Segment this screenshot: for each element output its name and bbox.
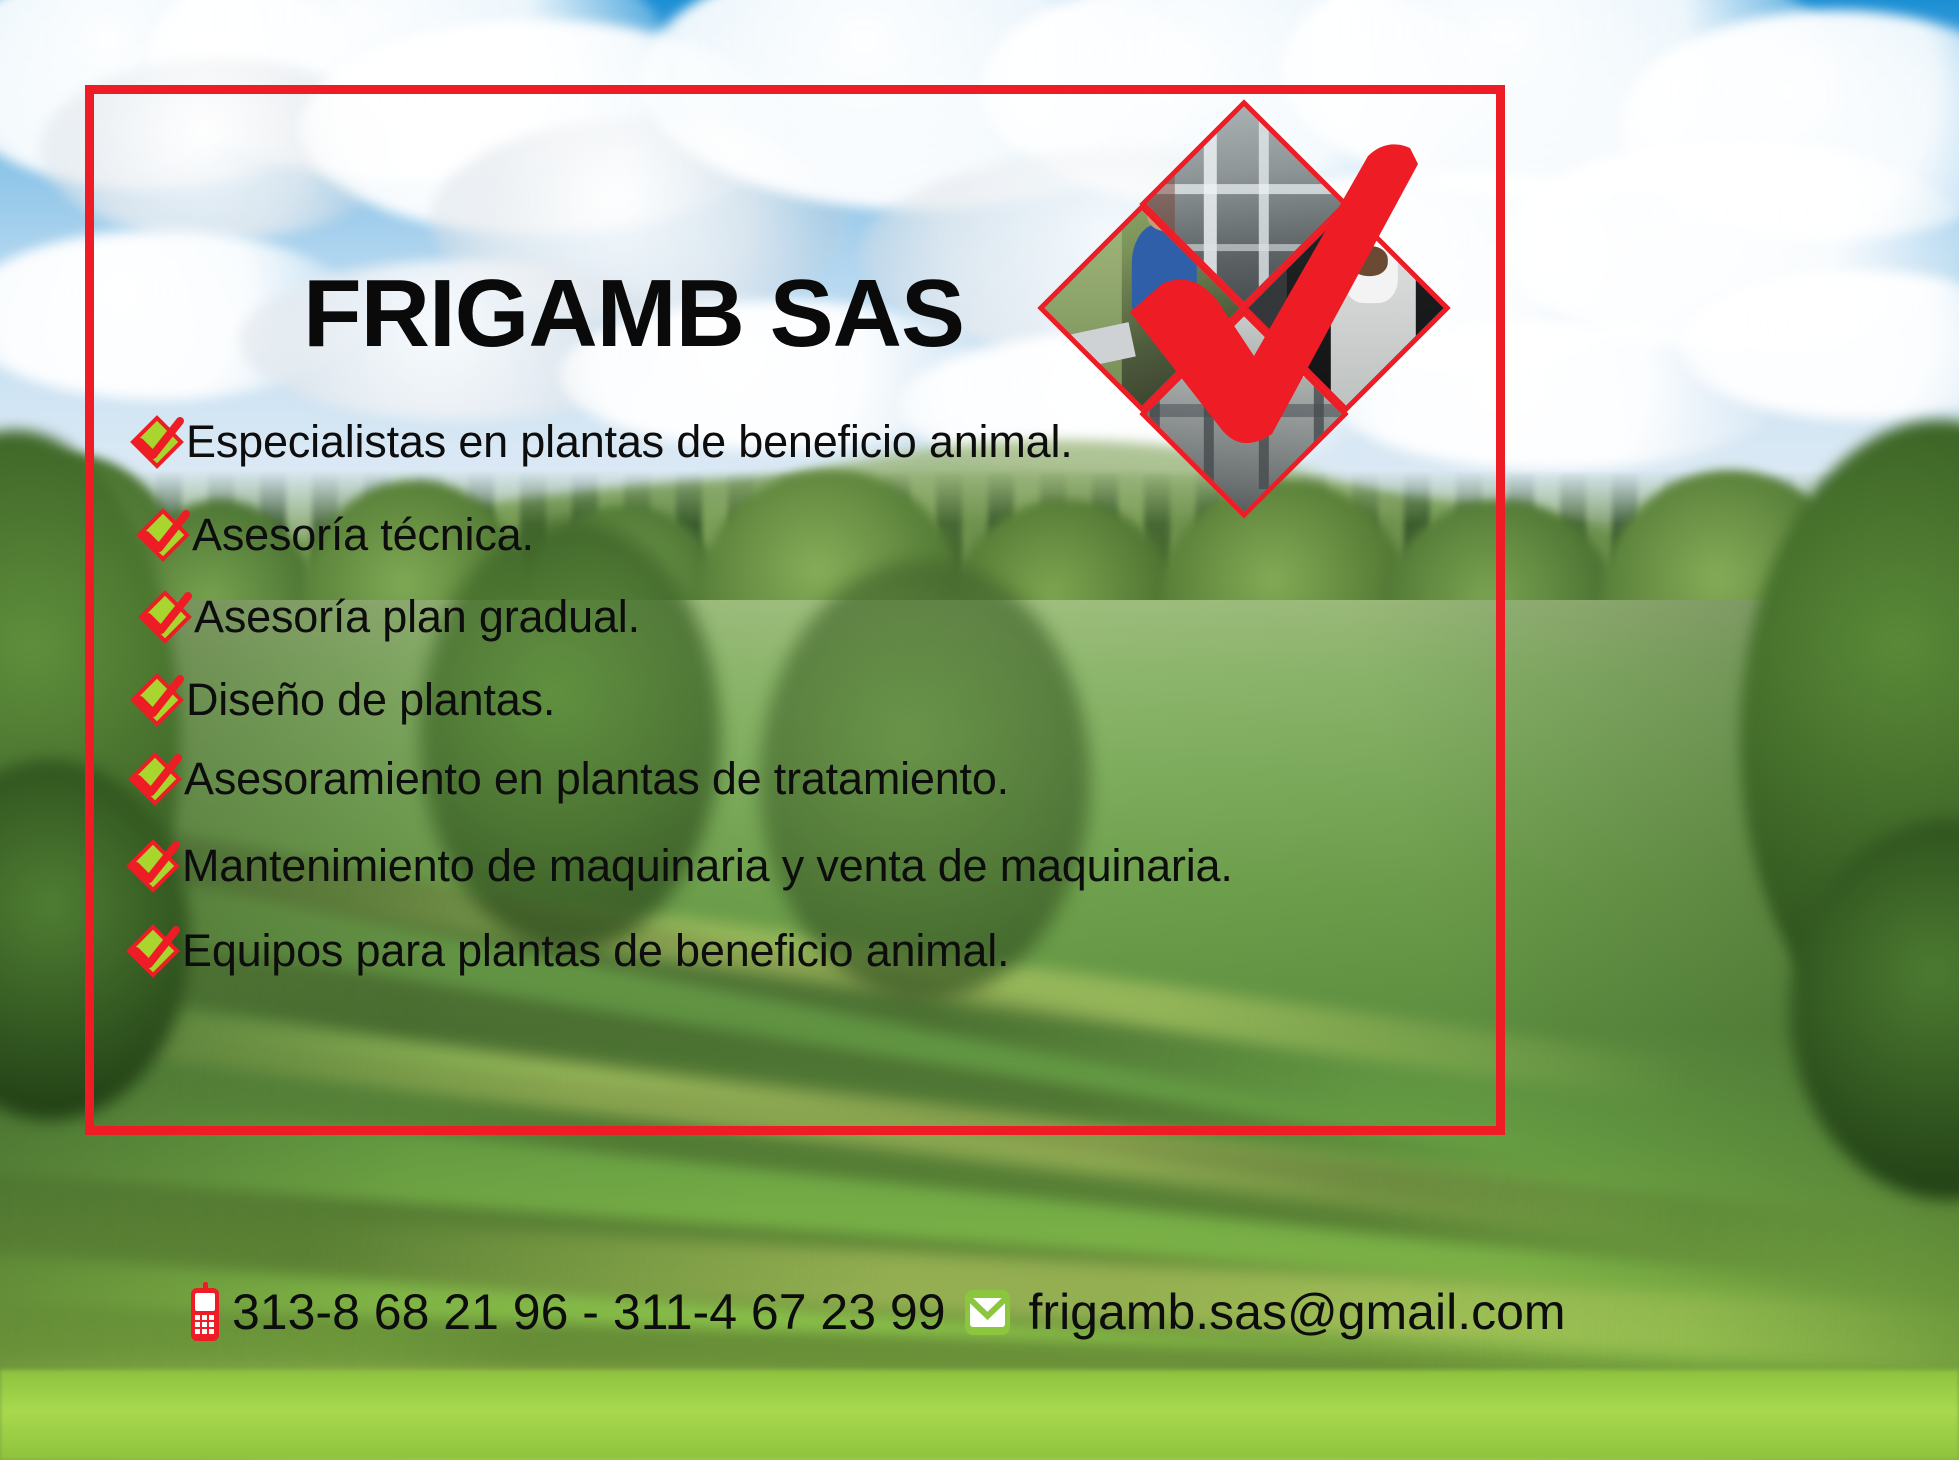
list-item-label: Asesoría plan gradual. bbox=[194, 591, 640, 643]
frigamb-diamond-logo bbox=[1060, 122, 1430, 500]
list-item-label: Mantenimiento de maquinaria y venta de m… bbox=[182, 840, 1233, 892]
list-item-label: Diseño de plantas. bbox=[186, 674, 555, 726]
check-diamond-icon bbox=[136, 588, 194, 646]
contact-bar: 313-8 68 21 96 - 311-4 67 23 99 frigamb.… bbox=[190, 1282, 1566, 1342]
check-diamond-icon bbox=[126, 750, 184, 808]
list-item-label: Asesoría técnica. bbox=[192, 509, 534, 561]
mobile-phone-icon bbox=[190, 1282, 220, 1342]
list-item: Asesoría plan gradual. bbox=[136, 588, 640, 646]
list-item: Mantenimiento de maquinaria y venta de m… bbox=[124, 837, 1233, 895]
list-item-label: Equipos para plantas de beneficio animal… bbox=[182, 925, 1009, 977]
list-item: Asesoría técnica. bbox=[134, 506, 534, 564]
check-diamond-icon bbox=[124, 837, 182, 895]
list-item: Equipos para plantas de beneficio animal… bbox=[124, 922, 1009, 980]
list-item-label: Especialistas en plantas de beneficio an… bbox=[186, 416, 1073, 468]
page-title: FRIGAMB SAS bbox=[303, 259, 964, 369]
list-item: Especialistas en plantas de beneficio an… bbox=[128, 413, 1073, 471]
check-diamond-icon bbox=[134, 506, 192, 564]
envelope-icon bbox=[964, 1289, 1011, 1336]
phone-numbers: 313-8 68 21 96 - 311-4 67 23 99 bbox=[232, 1283, 946, 1341]
list-item: Asesoramiento en plantas de tratamiento. bbox=[126, 750, 1009, 808]
check-diamond-icon bbox=[128, 671, 186, 729]
list-item: Diseño de plantas. bbox=[128, 671, 555, 729]
check-diamond-icon bbox=[124, 922, 182, 980]
email-address: frigamb.sas@gmail.com bbox=[1029, 1283, 1566, 1341]
list-item-label: Asesoramiento en plantas de tratamiento. bbox=[184, 753, 1009, 805]
check-diamond-icon bbox=[128, 413, 186, 471]
